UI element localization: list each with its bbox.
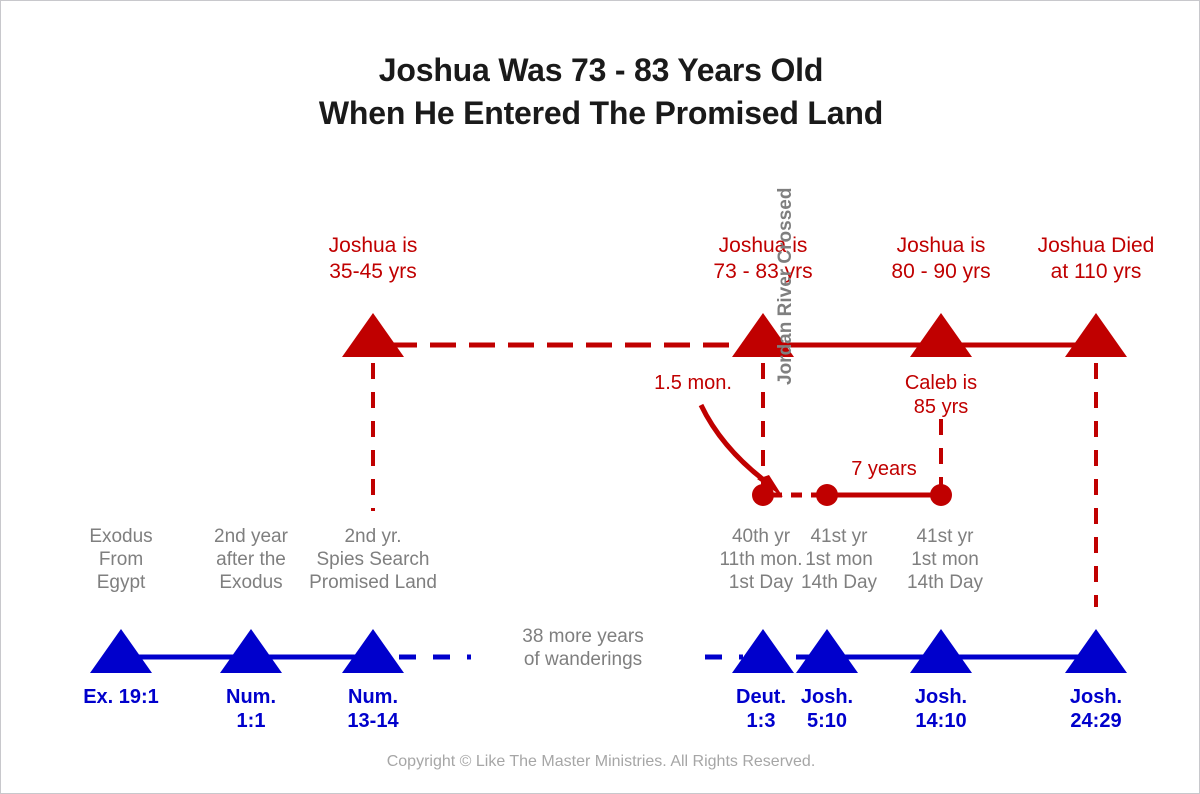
blue-marker-triangle	[90, 629, 152, 673]
scripture-label-num-1-1: Num. 1:1	[186, 685, 316, 734]
blue-marker-triangle	[1065, 629, 1127, 673]
copyright-footer: Copyright © Like The Master Ministries. …	[1, 753, 1200, 771]
scripture-label-ex-19-1: Ex. 19:1	[51, 685, 191, 709]
red-marker-triangle	[910, 313, 972, 357]
blue-marker-triangle	[796, 629, 858, 673]
event-label-41st-year-b: 41st yr 1st mon 14th Day	[880, 525, 1010, 595]
annotation-1-5-months: 1.5 mon.	[623, 371, 763, 395]
scripture-label-josh-14-10: Josh. 14:10	[876, 685, 1006, 734]
event-label-41st-year-a: 41st yr 1st mon 14th Day	[784, 525, 894, 595]
event-label-spies-search-promised-land: 2nd yr. Spies Search Promised Land	[283, 525, 463, 595]
scripture-label-josh-24-29: Josh. 24:29	[1031, 685, 1161, 734]
blue-marker-triangle	[910, 629, 972, 673]
red-dot-marker	[930, 484, 952, 506]
annotation-7-years: 7 years	[824, 457, 944, 481]
scripture-label-num-13-14: Num. 13-14	[308, 685, 438, 734]
red-marker-triangle	[1065, 313, 1127, 357]
annotation-caleb-85-yrs: Caleb is 85 yrs	[861, 371, 1021, 420]
red-age-label-joshua-73-83: Joshua is 73 - 83 yrs	[663, 233, 863, 284]
curved-arrow	[701, 405, 773, 487]
red-age-label-joshua-35-45: Joshua is 35-45 yrs	[273, 233, 473, 284]
red-dot-marker	[816, 484, 838, 506]
red-marker-triangle	[342, 313, 404, 357]
red-age-label-joshua-died-110: Joshua Died at 110 yrs	[996, 233, 1196, 284]
label-38-more-years-of-wanderings: 38 more years of wanderings	[471, 625, 695, 671]
blue-marker-triangle	[342, 629, 404, 673]
scripture-label-josh-5-10: Josh. 5:10	[772, 685, 882, 734]
timeline-diagram: Joshua Was 73 - 83 Years Old When He Ent…	[0, 0, 1200, 794]
blue-marker-triangle	[732, 629, 794, 673]
label-jordan-river-crossed: Jordan River Crossed	[775, 135, 797, 385]
blue-marker-triangle	[220, 629, 282, 673]
